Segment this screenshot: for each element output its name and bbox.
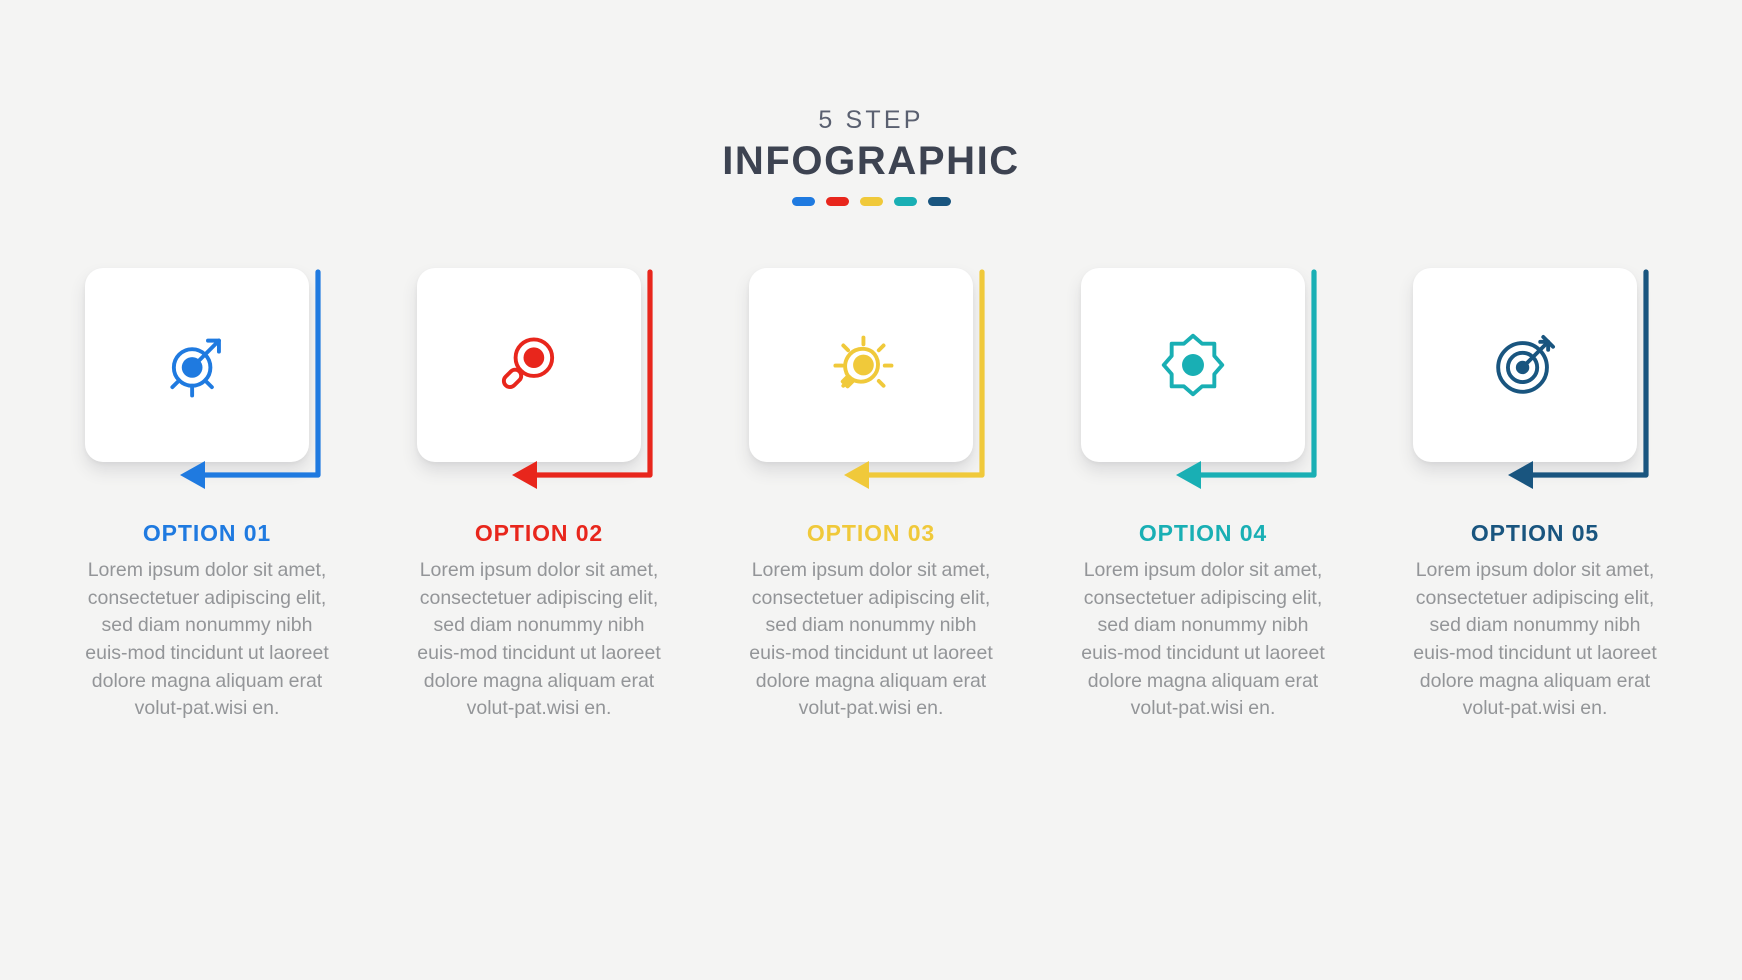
dash-red <box>826 197 849 206</box>
infographic-header: 5 STEP INFOGRAPHIC <box>0 108 1742 206</box>
header-dash-row <box>0 197 1742 206</box>
step-1-card[interactable] <box>85 268 309 462</box>
step-3-caption: OPTION 03Lorem ipsum dolor sit amet, con… <box>749 522 994 723</box>
step-1-body: Lorem ipsum dolor sit amet, consectetuer… <box>85 557 330 723</box>
step-4-card[interactable] <box>1081 268 1305 462</box>
step-2: OPTION 02Lorem ipsum dolor sit amet, con… <box>417 268 662 723</box>
step-2-title: OPTION 02 <box>417 522 662 545</box>
step-5-body: Lorem ipsum dolor sit amet, consectetuer… <box>1413 557 1658 723</box>
step-3-title: OPTION 03 <box>749 522 994 545</box>
steps-row: OPTION 01Lorem ipsum dolor sit amet, con… <box>0 268 1742 723</box>
step-5-card[interactable] <box>1413 268 1637 462</box>
step-4-card-zone <box>1081 268 1326 498</box>
dash-blue <box>792 197 815 206</box>
step-3-body: Lorem ipsum dolor sit amet, consectetuer… <box>749 557 994 723</box>
step-3: OPTION 03Lorem ipsum dolor sit amet, con… <box>749 268 994 723</box>
step-5-caption: OPTION 05Lorem ipsum dolor sit amet, con… <box>1413 522 1658 723</box>
lightbulb-idea-icon <box>822 326 900 404</box>
target-growth-arrow-icon <box>158 326 236 404</box>
step-2-card[interactable] <box>417 268 641 462</box>
step-5-title: OPTION 05 <box>1413 522 1658 545</box>
header-title: INFOGRAPHIC <box>0 141 1742 181</box>
dash-navy <box>928 197 951 206</box>
step-1: OPTION 01Lorem ipsum dolor sit amet, con… <box>85 268 330 723</box>
gear-settings-icon <box>1154 326 1232 404</box>
step-1-caption: OPTION 01Lorem ipsum dolor sit amet, con… <box>85 522 330 723</box>
step-2-caption: OPTION 02Lorem ipsum dolor sit amet, con… <box>417 522 662 723</box>
step-1-card-zone <box>85 268 330 498</box>
step-4-title: OPTION 04 <box>1081 522 1326 545</box>
magnifier-search-icon <box>490 326 568 404</box>
dash-yellow <box>860 197 883 206</box>
bullseye-arrow-icon <box>1486 326 1564 404</box>
step-5-card-zone <box>1413 268 1658 498</box>
step-1-title: OPTION 01 <box>85 522 330 545</box>
step-3-card[interactable] <box>749 268 973 462</box>
step-4: OPTION 04Lorem ipsum dolor sit amet, con… <box>1081 268 1326 723</box>
step-4-caption: OPTION 04Lorem ipsum dolor sit amet, con… <box>1081 522 1326 723</box>
step-2-card-zone <box>417 268 662 498</box>
step-3-card-zone <box>749 268 994 498</box>
dash-teal <box>894 197 917 206</box>
step-2-body: Lorem ipsum dolor sit amet, consectetuer… <box>417 557 662 723</box>
step-5: OPTION 05Lorem ipsum dolor sit amet, con… <box>1413 268 1658 723</box>
step-4-body: Lorem ipsum dolor sit amet, consectetuer… <box>1081 557 1326 723</box>
header-eyebrow: 5 STEP <box>0 108 1742 133</box>
